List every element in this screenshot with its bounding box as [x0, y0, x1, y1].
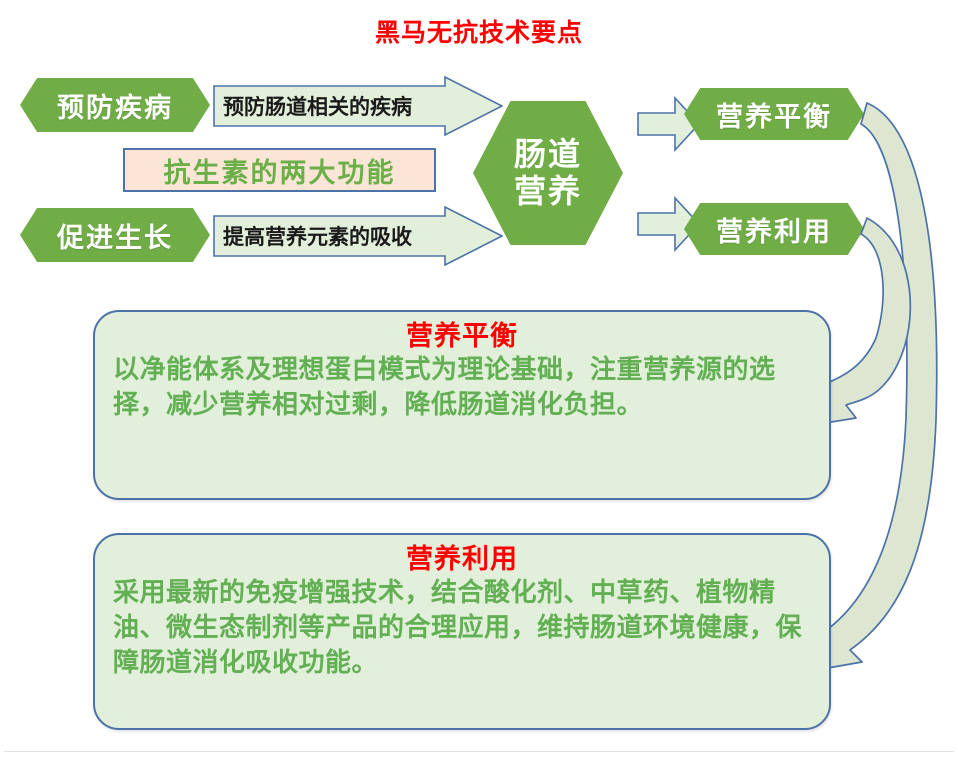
- chip-promote-growth[interactable]: 促进生长: [20, 208, 210, 262]
- callout-antibiotic-functions-label: 抗生素的两大功能: [164, 151, 396, 190]
- center-hexagon-line2: 营养: [514, 173, 582, 210]
- block-arrow-prevent-label-wrap: 预防肠道相关的疾病: [223, 86, 445, 126]
- panel-nutrition-balance-body: 以净能体系及理想蛋白模式为理论基础，注重营养源的选择，减少营养相对过剩，降低肠道…: [113, 352, 811, 421]
- block-arrow-growth-label: 提高营养元素的吸收: [223, 221, 412, 251]
- block-arrow-prevent-label: 预防肠道相关的疾病: [223, 91, 412, 121]
- panel-nutrition-utilization-heading: 营养利用: [113, 543, 811, 575]
- block-arrow-prevent[interactable]: 预防肠道相关的疾病: [213, 76, 503, 136]
- chip-nutrition-balance[interactable]: 营养平衡: [684, 88, 864, 140]
- chip-prevent-disease-label: 预防疾病: [57, 86, 173, 125]
- center-hexagon-line1: 肠道: [514, 136, 582, 173]
- callout-antibiotic-functions[interactable]: 抗生素的两大功能: [123, 148, 436, 192]
- chip-nutrition-utilization-label: 营养利用: [716, 210, 832, 249]
- chip-nutrition-utilization[interactable]: 营养利用: [684, 203, 864, 255]
- panel-nutrition-utilization-body: 采用最新的免疫增强技术，结合酸化剂、中草药、植物精油、微生态制剂等产品的合理应用…: [113, 575, 811, 679]
- block-arrow-growth[interactable]: 提高营养元素的吸收: [213, 206, 503, 266]
- panel-nutrition-balance[interactable]: 营养平衡 以净能体系及理想蛋白模式为理论基础，注重营养源的选择，减少营养相对过剩…: [93, 310, 831, 500]
- panel-nutrition-utilization[interactable]: 营养利用 采用最新的免疫增强技术，结合酸化剂、中草药、植物精油、微生态制剂等产品…: [93, 533, 831, 730]
- slide-canvas: 黑马无抗技术要点 预防疾病 预防肠道相关的疾病 抗生素的两大功能 促进生长 提高…: [0, 0, 958, 757]
- chip-nutrition-balance-label: 营养平衡: [716, 95, 832, 134]
- block-arrow-growth-label-wrap: 提高营养元素的吸收: [223, 216, 445, 256]
- chip-promote-growth-label: 促进生长: [57, 216, 173, 255]
- page-title: 黑马无抗技术要点: [0, 20, 958, 48]
- bottom-divider: [4, 751, 954, 752]
- chip-prevent-disease[interactable]: 预防疾病: [20, 78, 210, 132]
- panel-nutrition-balance-heading: 营养平衡: [113, 320, 811, 352]
